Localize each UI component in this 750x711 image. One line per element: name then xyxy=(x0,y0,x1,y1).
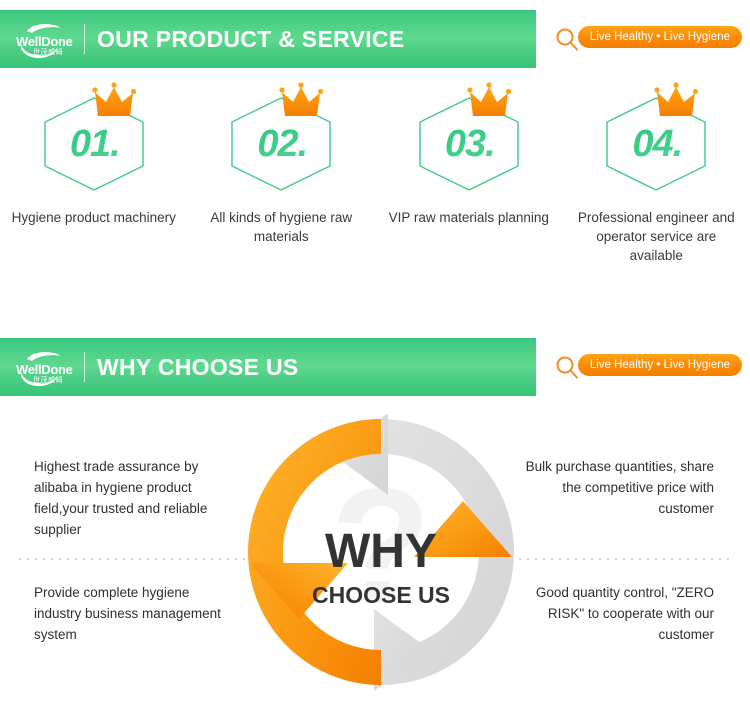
svg-text:WellDone: WellDone xyxy=(16,34,73,49)
hexagon-badge: 03. xyxy=(417,82,521,194)
crown-icon xyxy=(279,82,325,124)
header-divider xyxy=(84,24,85,54)
crown-icon xyxy=(92,82,138,124)
product-card[interactable]: 01. Hygiene product machinery xyxy=(0,82,188,265)
cycle-arrows-graphic: ? WHY xyxy=(236,407,526,697)
header-divider xyxy=(84,352,85,382)
tagline-badge: Live Healthy • Live Hygiene xyxy=(578,26,742,48)
brand-logo[interactable]: WellDone 世茂威姆 xyxy=(13,347,75,389)
why-text-bottom-right: Good quantity control, "ZERO RISK" to co… xyxy=(514,582,714,645)
hexagon-badge: 01. xyxy=(42,82,146,194)
product-card[interactable]: 04. Professional engineer and operator s… xyxy=(563,82,750,265)
why-text-top-right: Bulk purchase quantities, share the comp… xyxy=(514,456,714,519)
crown-icon xyxy=(467,82,513,124)
why-choose-us-diagram: ? WHY xyxy=(0,402,750,711)
marketing-page: WellDone 世茂威姆 OUR PRODUCT & SERVICE Live… xyxy=(0,0,750,711)
section-header-why-choose-us: WellDone 世茂威姆 WHY CHOOSE US Live Healthy… xyxy=(0,338,750,396)
search-icon[interactable] xyxy=(554,354,580,380)
product-service-card-row: 01. Hygiene product machinery 02. xyxy=(0,82,750,265)
svg-text:世茂威姆: 世茂威姆 xyxy=(33,375,63,384)
why-text-top-left: Highest trade assurance by alibaba in hy… xyxy=(34,456,234,540)
hexagon-badge: 02. xyxy=(229,82,333,194)
hexagon-badge: 04. xyxy=(604,82,708,194)
product-card[interactable]: 03. VIP raw materials planning xyxy=(375,82,563,265)
card-caption: VIP raw materials planning xyxy=(384,208,554,227)
card-caption: All kinds of hygiene raw materials xyxy=(196,208,366,246)
section-title: OUR PRODUCT & SERVICE xyxy=(97,24,404,54)
search-icon[interactable] xyxy=(554,26,580,52)
section-title: WHY CHOOSE US xyxy=(97,352,299,382)
tagline-badge: Live Healthy • Live Hygiene xyxy=(578,354,742,376)
divider-dotted-left xyxy=(16,558,266,560)
svg-text:世茂威姆: 世茂威姆 xyxy=(33,47,63,56)
card-caption: Hygiene product machinery xyxy=(9,208,179,227)
why-text-bottom-left: Provide complete hygiene industry busine… xyxy=(34,582,234,645)
crown-icon xyxy=(654,82,700,124)
cycle-center-title: WHY xyxy=(325,525,437,578)
card-caption: Professional engineer and operator servi… xyxy=(571,208,741,265)
brand-logo[interactable]: WellDone 世茂威姆 xyxy=(13,19,75,61)
section-header-product-service: WellDone 世茂威姆 OUR PRODUCT & SERVICE Live… xyxy=(0,10,750,68)
product-card[interactable]: 02. All kinds of hygiene raw materials xyxy=(188,82,376,265)
cycle-center-subtitle: CHOOSE US xyxy=(312,582,450,608)
svg-text:WellDone: WellDone xyxy=(16,362,73,377)
